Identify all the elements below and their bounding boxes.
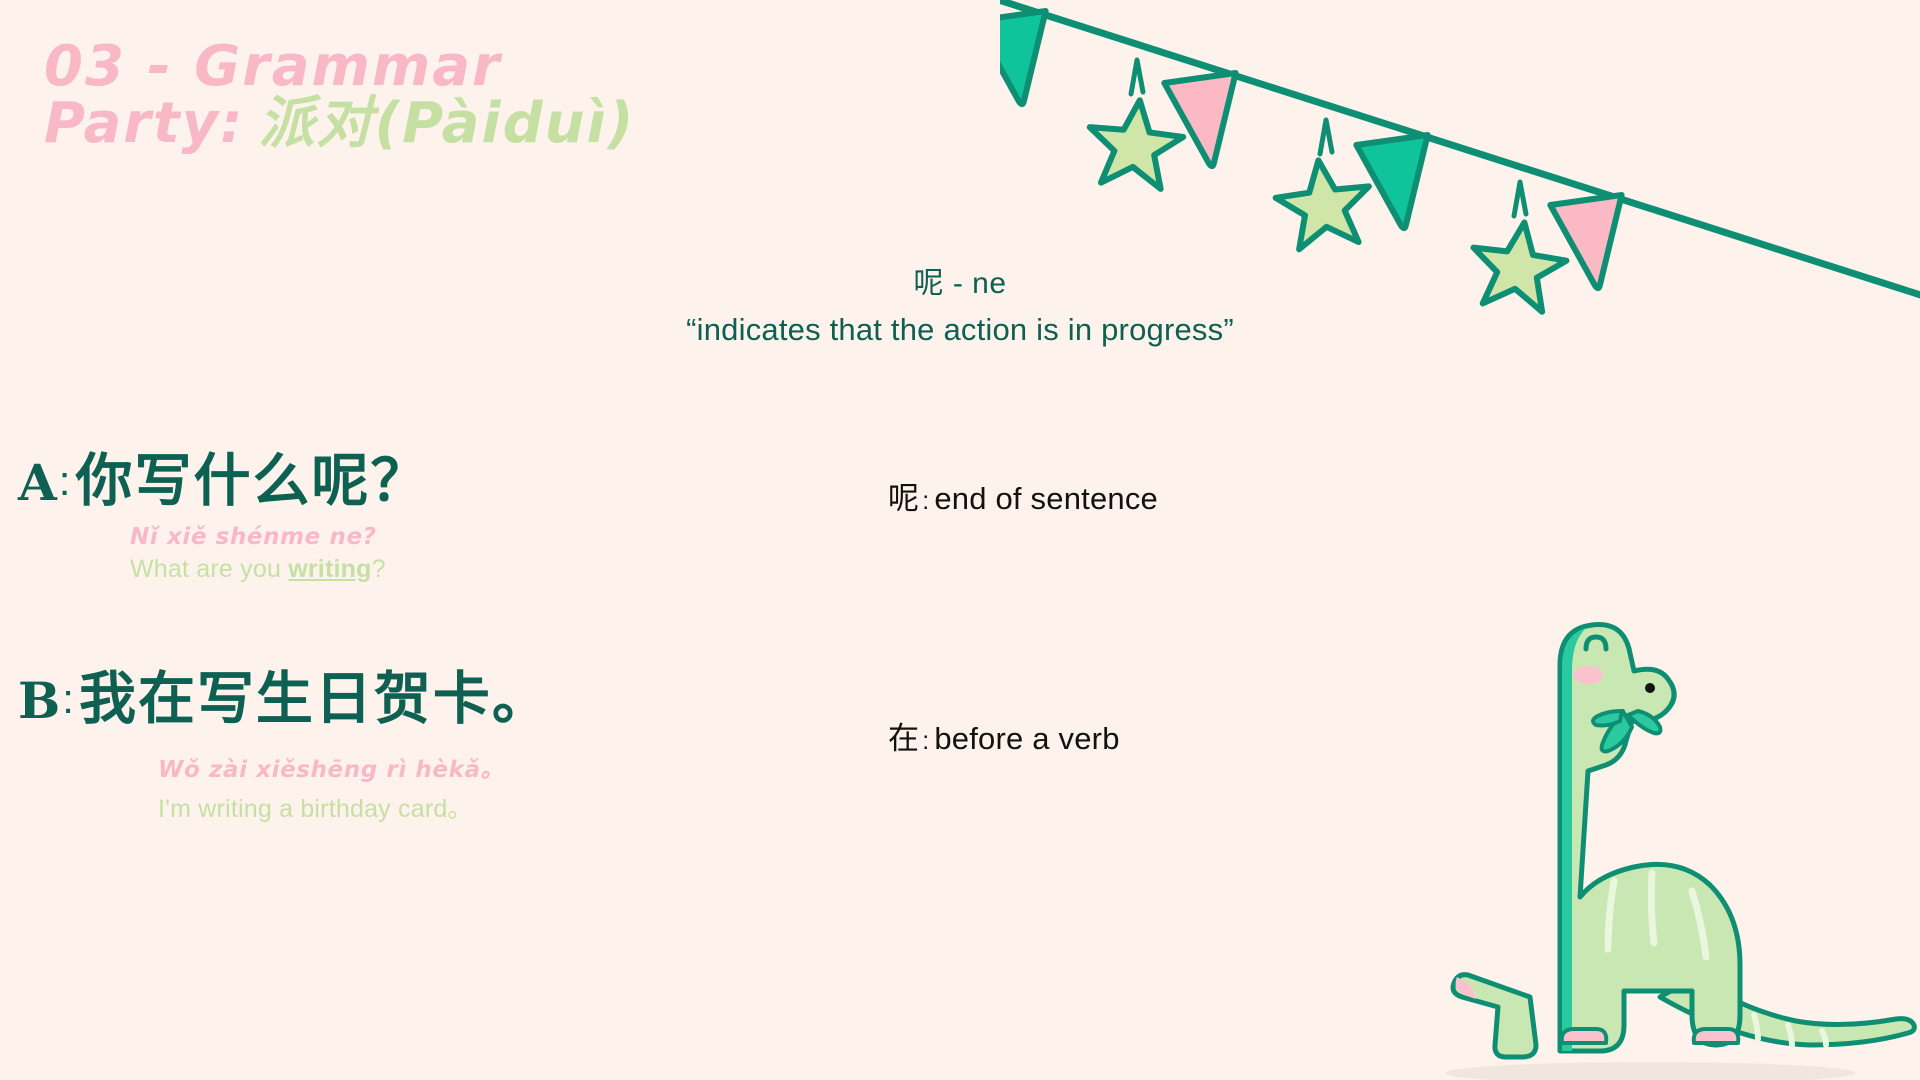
dialogue-a-hanzi-part-2: 呢 xyxy=(311,449,370,513)
title-line-1: 03 - Grammar xyxy=(44,38,635,95)
dinosaur-nostril xyxy=(1645,683,1655,693)
dinosaur-shadow xyxy=(1445,1062,1855,1080)
keynote-zai: 在:before a verb xyxy=(888,713,1120,758)
grammar-note: 呢 - ne “indicates that the action is in … xyxy=(0,258,1920,348)
keynote-ne-key: 呢 xyxy=(888,481,919,516)
grammar-note-key: 呢 - ne xyxy=(0,258,1920,302)
dialogue-a-english-emphasis: writing xyxy=(288,555,371,583)
keynote-ne: 呢:end of sentence xyxy=(888,473,1158,518)
dialogue-a-hanzi-part-1: 你写什么 xyxy=(75,449,311,513)
garland-item-triangle-2 xyxy=(1000,11,1058,109)
keynote-ne-value: end of sentence xyxy=(934,481,1158,516)
dialogue-a-english-after: ? xyxy=(372,555,386,583)
dialogue-a-english: What are you writing? xyxy=(130,555,429,584)
brontosaurus-illustration-icon xyxy=(1410,545,1920,1080)
dialogue-a-speaker: A xyxy=(18,453,57,512)
dialogue-a-colon: : xyxy=(57,457,76,504)
dialogue-b-english-before: I'm writing a birthday card xyxy=(158,795,447,823)
dialogue-a-english-before: What are you xyxy=(130,555,288,583)
dialogue-b-hanzi-part-3: 写生日贺卡。 xyxy=(197,667,551,731)
keynote-zai-colon: : xyxy=(919,727,934,755)
grammar-note-definition: “indicates that the action is in progres… xyxy=(0,312,1920,348)
dialogue-b-colon: : xyxy=(60,675,79,722)
dialogue-a-hanzi: A:你写什么呢？ xyxy=(18,450,429,514)
dialogue-b-hanzi: B:我在写生日贺卡。 xyxy=(18,668,551,732)
dialogue-a-sub: Nǐ xiě shénme ne? What are you writing? xyxy=(130,524,429,584)
title-line-2-chinese: 派对(Pàiduì) xyxy=(245,91,636,156)
dialogue-b-hanzi-part-2: 在 xyxy=(138,667,197,731)
garland-item-star-3 xyxy=(1084,60,1186,191)
garland-item-star-1 xyxy=(1000,0,1006,122)
garland-item-triangle-6 xyxy=(1356,135,1440,233)
dinosaur-standing-toes xyxy=(1562,1029,1607,1043)
dialogue-b-english-after: 。 xyxy=(447,795,472,823)
title-line-2-prefix: Party: xyxy=(44,91,245,156)
dialogue-b-speaker: B xyxy=(18,671,60,730)
dialogue-a-pinyin: Nǐ xiě shénme ne? xyxy=(130,524,429,550)
title-line-2: Party:派对(Pàiduì) xyxy=(44,95,635,152)
dialogue-line-a: A:你写什么呢？ Nǐ xiě shénme ne? What are you … xyxy=(18,450,429,584)
dialogue-line-b: B:我在写生日贺卡。 Wǒ zài xiěshēng rì hèkǎ。 I'm … xyxy=(18,668,551,825)
keynote-zai-value: before a verb xyxy=(934,721,1119,756)
garland-item-triangle-4 xyxy=(1164,73,1248,171)
keynote-ne-colon: : xyxy=(919,487,934,515)
dialogue-a-hanzi-part-3: ？ xyxy=(370,449,429,513)
page-title: 03 - Grammar Party:派对(Pàiduì) xyxy=(44,38,635,152)
dialogue-b-english: I'm writing a birthday card。 xyxy=(158,789,551,825)
keynote-zai-key: 在 xyxy=(888,721,919,756)
dinosaur-front-toes xyxy=(1694,1029,1739,1043)
dinosaur-cheek xyxy=(1573,666,1603,684)
dialogue-b-hanzi-part-1: 我 xyxy=(79,667,138,731)
garland-item-star-5 xyxy=(1272,120,1376,251)
dialogue-b-sub: Wǒ zài xiěshēng rì hèkǎ。 I'm writing a b… xyxy=(158,750,551,825)
slide-canvas: 03 - Grammar Party:派对(Pàiduì) 呢 - ne “in… xyxy=(0,0,1920,1080)
dialogue-b-pinyin: Wǒ zài xiěshēng rì hèkǎ。 xyxy=(158,750,551,784)
